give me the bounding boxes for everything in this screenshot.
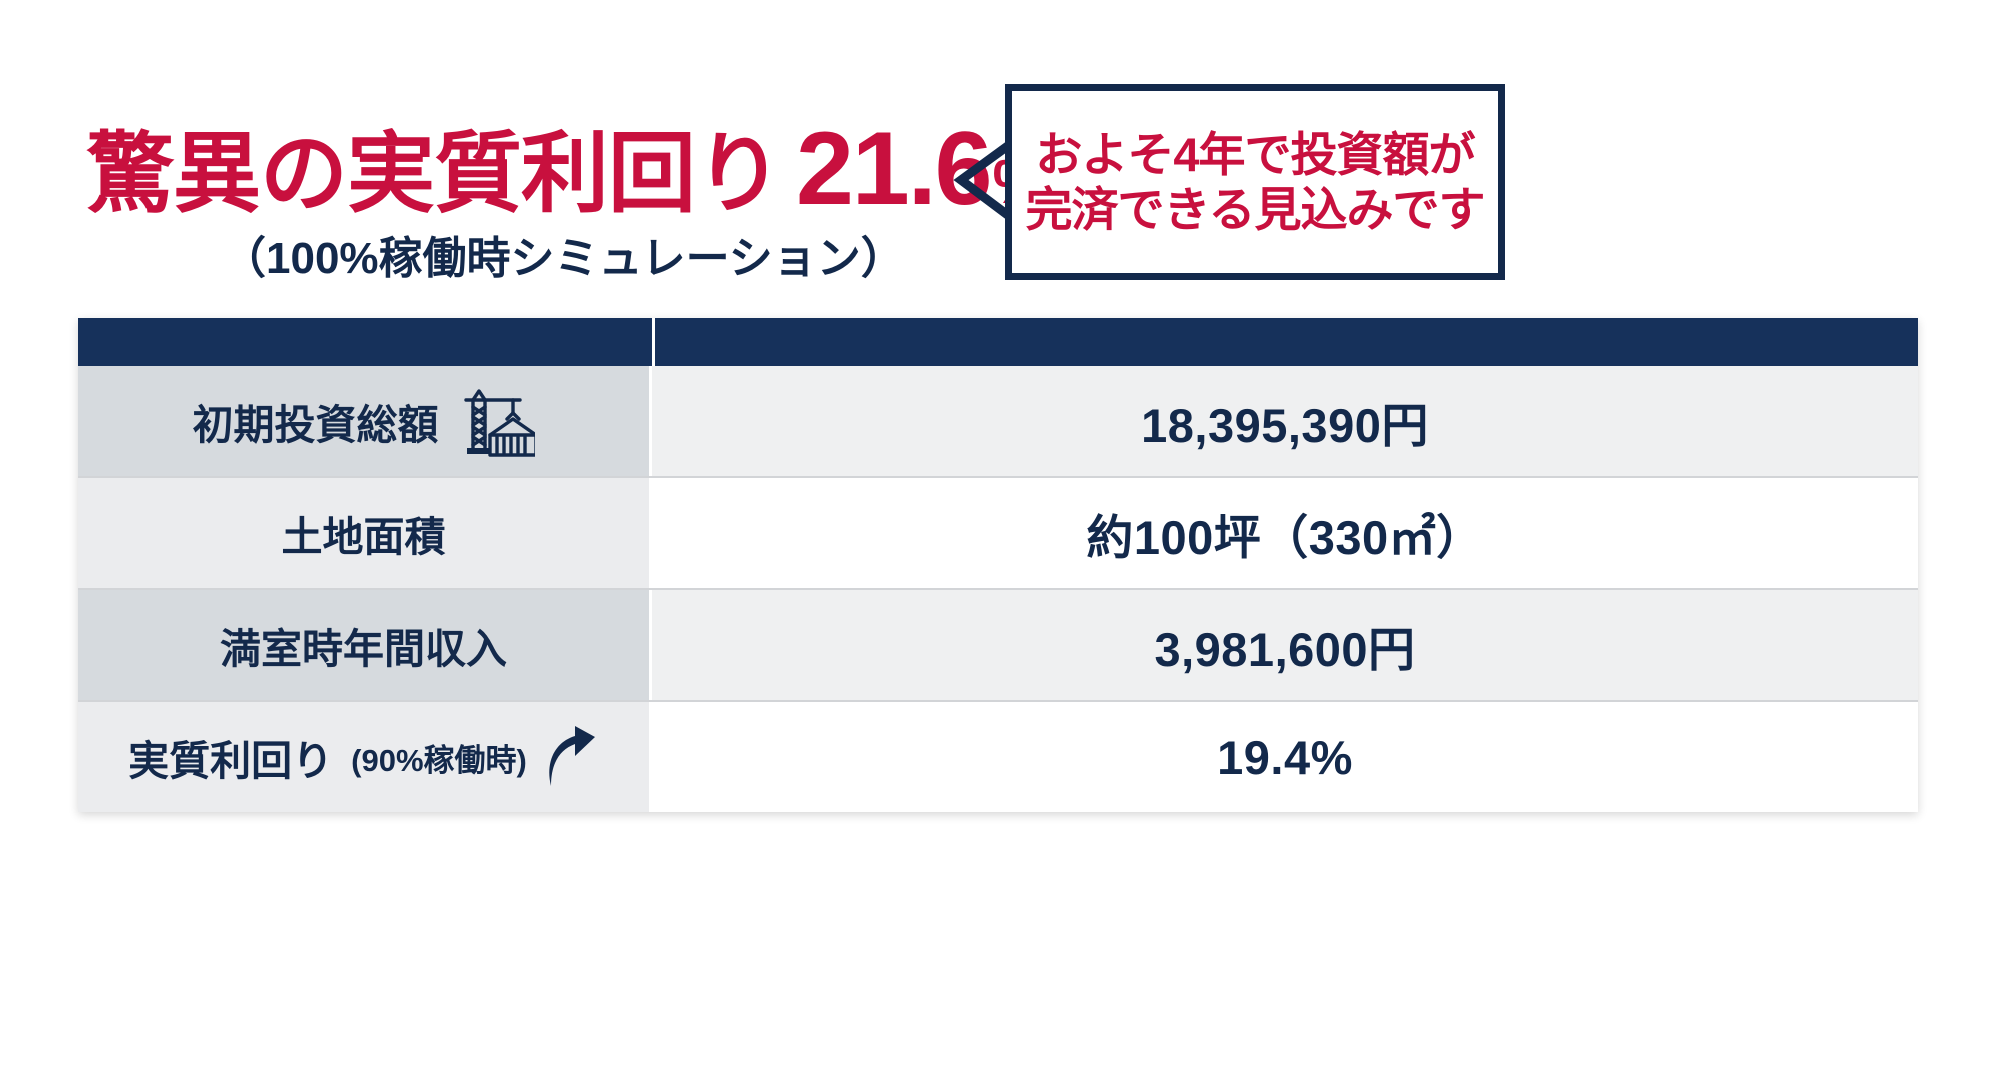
table-cell-label: 土地面積 — [78, 478, 652, 588]
callout-box: およそ4年で投資額が 完済できる見込みです — [1005, 84, 1505, 280]
headline: 驚異の実質利回り 21.6 % — [86, 122, 1048, 218]
table-cell-value: 約100坪（330㎡） — [652, 478, 1918, 588]
up-arrow-icon — [545, 726, 599, 788]
crane-container-icon — [457, 383, 535, 459]
table-cell-value: 19.4% — [652, 702, 1918, 812]
row-label-sub: (90%稼働時) — [351, 735, 527, 780]
callout-line-1: およそ4年で投資額が — [1035, 127, 1474, 182]
table-row: 土地面積 約100坪（330㎡） — [78, 476, 1918, 588]
headline-text: 驚異の実質利回り — [86, 130, 782, 218]
table-row: 初期投資総額 — [78, 366, 1918, 476]
table-cell-label: 実質利回り (90%稼働時) — [78, 702, 652, 812]
summary-table: 初期投資総額 — [78, 318, 1918, 812]
row-label: 実質利回り — [128, 727, 333, 787]
table-cell-label: 初期投資総額 — [78, 366, 652, 476]
table-cell-value: 3,981,600円 — [652, 590, 1918, 700]
table-header-cell-label — [78, 318, 655, 366]
row-label: 土地面積 — [282, 503, 446, 563]
table-cell-label: 満室時年間収入 — [78, 590, 652, 700]
row-label: 初期投資総額 — [193, 391, 439, 451]
subtitle: （100%稼働時シミュレーション） — [222, 222, 905, 286]
table-cell-value: 18,395,390円 — [652, 366, 1918, 476]
table-header-row — [78, 318, 1918, 366]
row-label: 満室時年間収入 — [220, 615, 507, 675]
table-row: 実質利回り (90%稼働時) 19.4% — [78, 700, 1918, 812]
callout-line-2: 完済できる見込みです — [1025, 182, 1484, 237]
infographic-canvas: 驚異の実質利回り 21.6 % （100%稼働時シミュレーション） およそ4年で… — [0, 0, 2000, 1092]
callout-pointer-icon — [947, 142, 1011, 224]
table-row: 満室時年間収入 3,981,600円 — [78, 588, 1918, 700]
table-header-cell-value — [655, 318, 1918, 366]
